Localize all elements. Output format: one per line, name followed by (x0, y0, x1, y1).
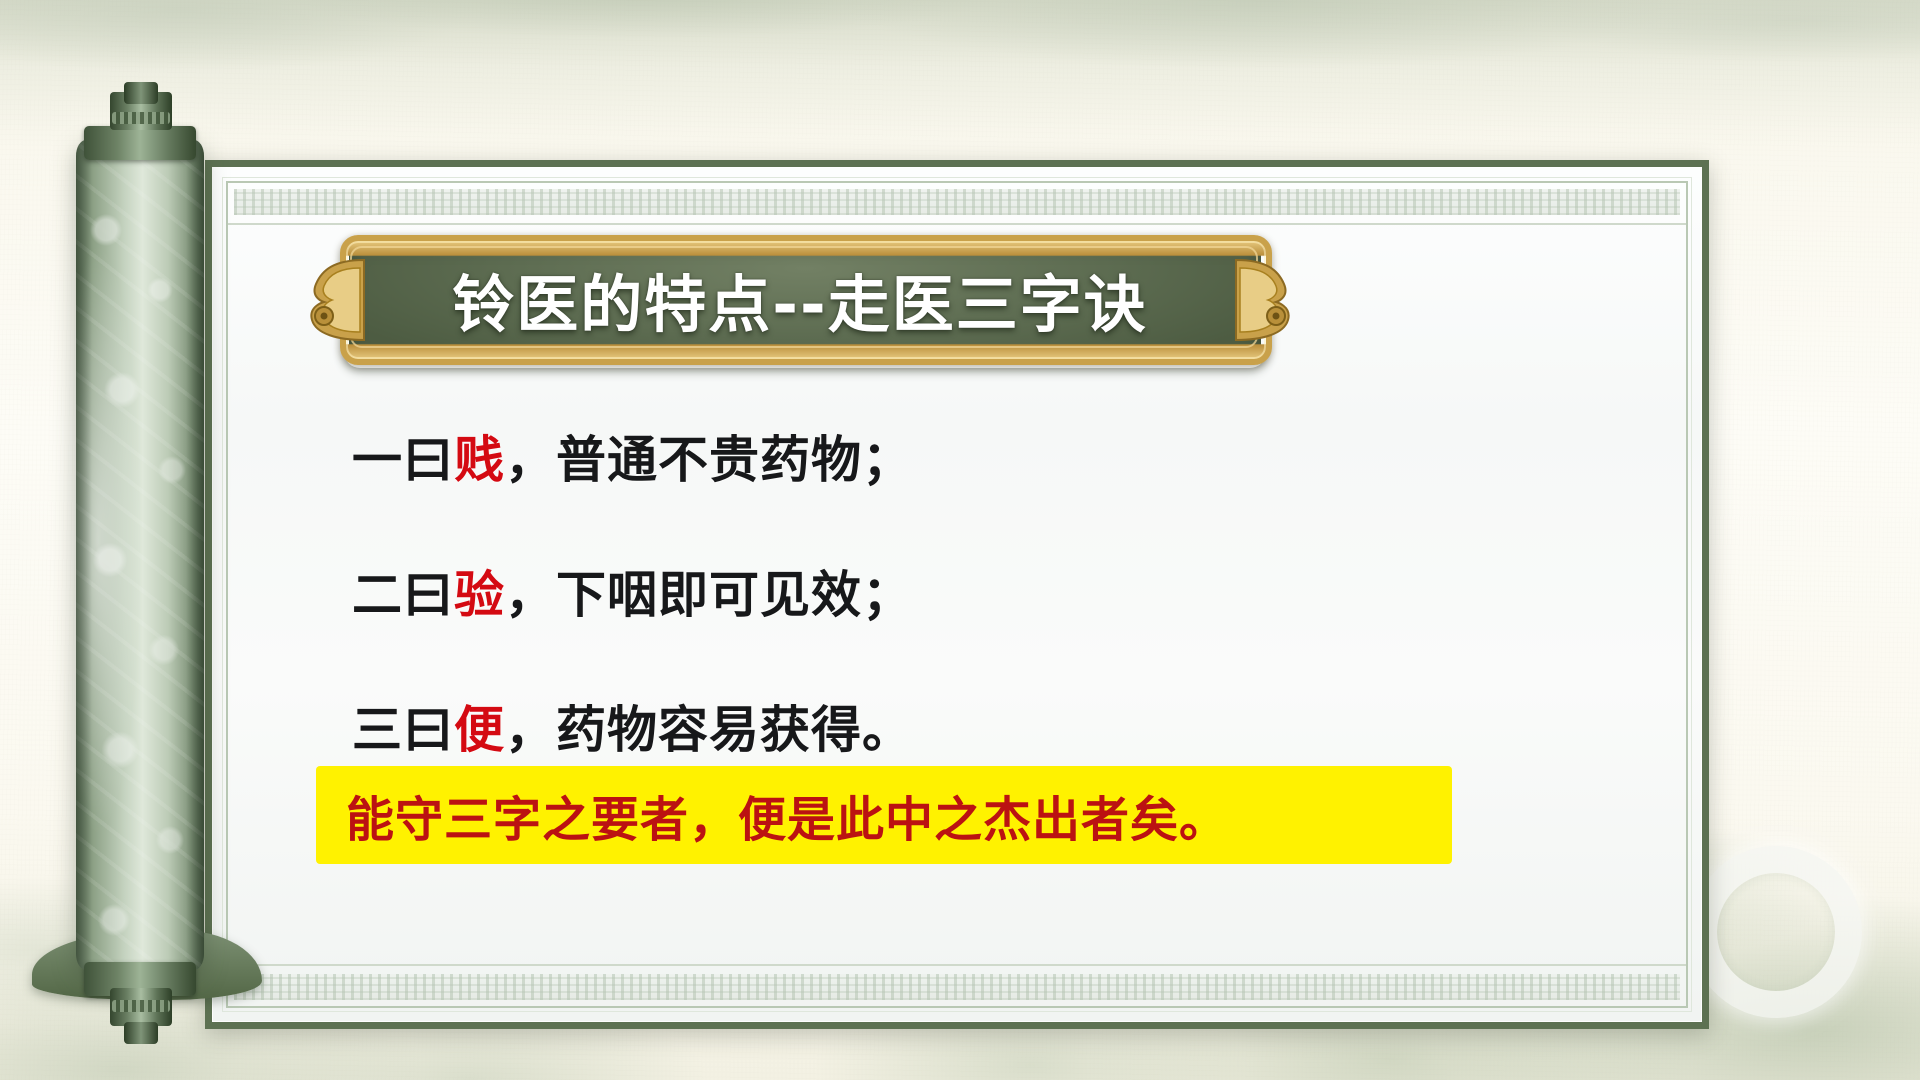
scroll-finial-bottom (124, 1022, 158, 1044)
jade-ring-watermark-icon (1690, 846, 1862, 1018)
sheet-rule-top (228, 223, 1686, 225)
scroll-roller-shadow-left (76, 140, 92, 970)
body-line-prefix: 一曰 (352, 431, 454, 489)
page-title: 铃医的特点--走医三字诀 (344, 240, 1256, 358)
body-line: 三曰便，药物容易获得。 (352, 690, 1532, 762)
body-line-keyword: 便 (454, 701, 505, 759)
sheet-rule-bottom (228, 964, 1686, 966)
highlight-banner: 能守三字之要者，便是此中之杰出者矣。 (316, 766, 1452, 864)
body-line-prefix: 三曰 (352, 701, 454, 759)
scroll-finial-top (124, 82, 158, 104)
scroll-cap-top (84, 126, 196, 160)
body-line-prefix: 二曰 (352, 566, 454, 624)
body-line-keyword: 贱 (454, 431, 505, 489)
body-line: 一曰贱，普通不贵药物； (352, 420, 1532, 492)
title-banner: 铃医的特点--走医三字诀 (300, 240, 1300, 358)
scroll-roller-shadow-right (186, 140, 204, 970)
highlight-text: 能守三字之要者，便是此中之杰出者矣。 (316, 780, 1228, 850)
sheet-lace-top (234, 189, 1680, 215)
sheet-lace-bottom (234, 974, 1680, 1000)
body-line-keyword: 验 (454, 566, 505, 624)
slide-canvas: 铃医的特点--走医三字诀 一曰贱，普通不贵药物； 二曰验，下咽即可见效； 三曰便… (0, 0, 1920, 1080)
scroll-roller-pattern (76, 140, 204, 970)
body-line-suffix: ，普通不贵药物； (505, 431, 913, 489)
scroll-knob-ring-top (112, 112, 170, 124)
scroll-knob-ring-bottom (112, 1000, 170, 1012)
body-line-suffix: ，药物容易获得。 (505, 701, 913, 759)
scroll-roller (76, 140, 204, 970)
body-line-suffix: ，下咽即可见效； (505, 566, 913, 624)
body-line: 二曰验，下咽即可见效； (352, 555, 1532, 627)
body-text-block: 一曰贱，普通不贵药物； 二曰验，下咽即可见效； 三曰便，药物容易获得。 (352, 420, 1532, 825)
